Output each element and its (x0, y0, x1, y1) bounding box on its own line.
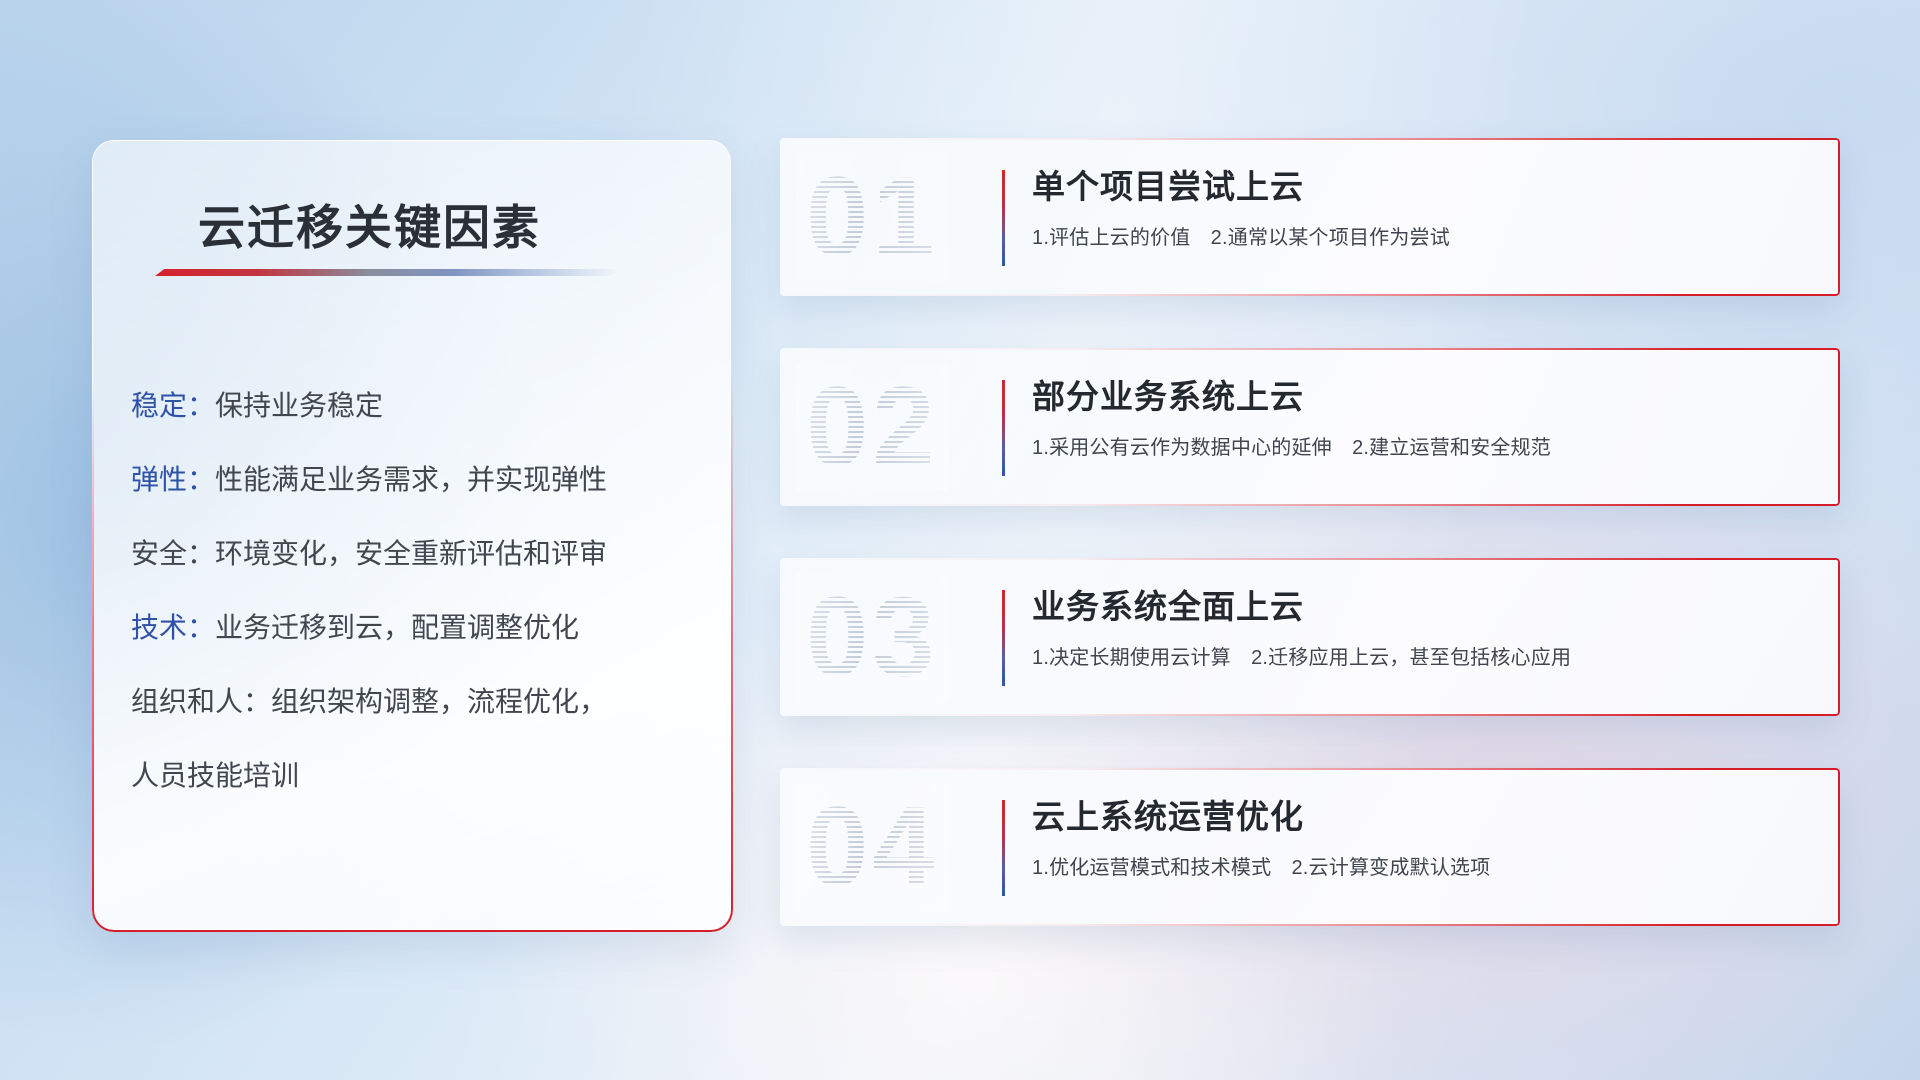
factor-line: 技术：业务迁移到云，配置调整优化 (131, 591, 706, 665)
stage-card-title: 业务系统全面上云 (1032, 586, 1816, 627)
factor-line: 组织和人：组织架构调整，流程优化， (131, 665, 706, 739)
factor-text: 业务迁移到云，配置调整优化 (215, 612, 579, 643)
factor-text: 保持业务稳定 (215, 390, 383, 421)
factor-text: 组织架构调整，流程优化， (271, 686, 607, 717)
stage-number-watermark: 01 (806, 161, 939, 273)
accent-bar (1002, 800, 1005, 896)
stage-card-subtitle: 1.优化运营模式和技术模式 2.云计算变成默认选项 (1032, 851, 1816, 880)
accent-bar (1002, 590, 1005, 686)
stage-card[interactable]: 01单个项目尝试上云1.评估上云的价值 2.通常以某个项目作为尝试 (780, 138, 1840, 296)
stage-card-list: 01单个项目尝试上云1.评估上云的价值 2.通常以某个项目作为尝试02部分业务系… (780, 138, 1840, 978)
factor-line: 安全：环境变化，安全重新评估和评审 (131, 517, 706, 591)
page-title: 云迁移关键因素 (198, 189, 541, 258)
stage-card-body: 部分业务系统上云1.采用公有云作为数据中心的延伸 2.建立运营和安全规范 (1032, 376, 1816, 460)
stage-card[interactable]: 04云上系统运营优化1.优化运营模式和技术模式 2.云计算变成默认选项 (780, 768, 1840, 926)
factor-text: 性能满足业务需求，并实现弹性 (215, 464, 607, 495)
factor-label: 稳定： (131, 390, 215, 421)
factor-label: 技术： (131, 612, 215, 643)
stage-card-body: 业务系统全面上云1.决定长期使用云计算 2.迁移应用上云，甚至包括核心应用 (1032, 586, 1816, 670)
factor-text: 环境变化，安全重新评估和评审 (215, 538, 607, 569)
accent-bar (1002, 380, 1005, 476)
accent-bar (1002, 170, 1005, 266)
stage-card-subtitle: 1.评估上云的价值 2.通常以某个项目作为尝试 (1032, 221, 1816, 250)
stage-card[interactable]: 03业务系统全面上云1.决定长期使用云计算 2.迁移应用上云，甚至包括核心应用 (780, 558, 1840, 716)
stage-card-body: 云上系统运营优化1.优化运营模式和技术模式 2.云计算变成默认选项 (1032, 796, 1816, 880)
stage-card-subtitle: 1.决定长期使用云计算 2.迁移应用上云，甚至包括核心应用 (1032, 641, 1816, 670)
stage-card-title: 部分业务系统上云 (1032, 376, 1816, 417)
factor-label: 安全： (131, 538, 215, 569)
stage-number-watermark: 03 (806, 581, 939, 693)
stage-number-watermark: 02 (806, 371, 939, 483)
factor-line: 稳定：保持业务稳定 (131, 369, 706, 443)
stage-number-watermark: 04 (806, 791, 939, 903)
slide-stage: 云迁移关键因素 稳定：保持业务稳定弹性：性能满足业务需求，并实现弹性安全：环境变… (0, 0, 1920, 1080)
factor-line: 弹性：性能满足业务需求，并实现弹性 (131, 443, 706, 517)
stage-card-title: 单个项目尝试上云 (1032, 166, 1816, 207)
stage-card-subtitle: 1.采用公有云作为数据中心的延伸 2.建立运营和安全规范 (1032, 431, 1816, 460)
stage-card-title: 云上系统运营优化 (1032, 796, 1816, 837)
title-underline-rule (155, 269, 620, 276)
stage-card[interactable]: 02部分业务系统上云1.采用公有云作为数据中心的延伸 2.建立运营和安全规范 (780, 348, 1840, 506)
stage-card-body: 单个项目尝试上云1.评估上云的价值 2.通常以某个项目作为尝试 (1032, 166, 1816, 250)
factor-line: 人员技能培训 (131, 739, 706, 813)
factor-list: 稳定：保持业务稳定弹性：性能满足业务需求，并实现弹性安全：环境变化，安全重新评估… (131, 369, 706, 813)
factor-label: 组织和人： (131, 686, 271, 717)
factor-text: 人员技能培训 (131, 760, 299, 791)
key-factors-panel: 云迁移关键因素 稳定：保持业务稳定弹性：性能满足业务需求，并实现弹性安全：环境变… (92, 140, 731, 930)
factor-label: 弹性： (131, 464, 215, 495)
